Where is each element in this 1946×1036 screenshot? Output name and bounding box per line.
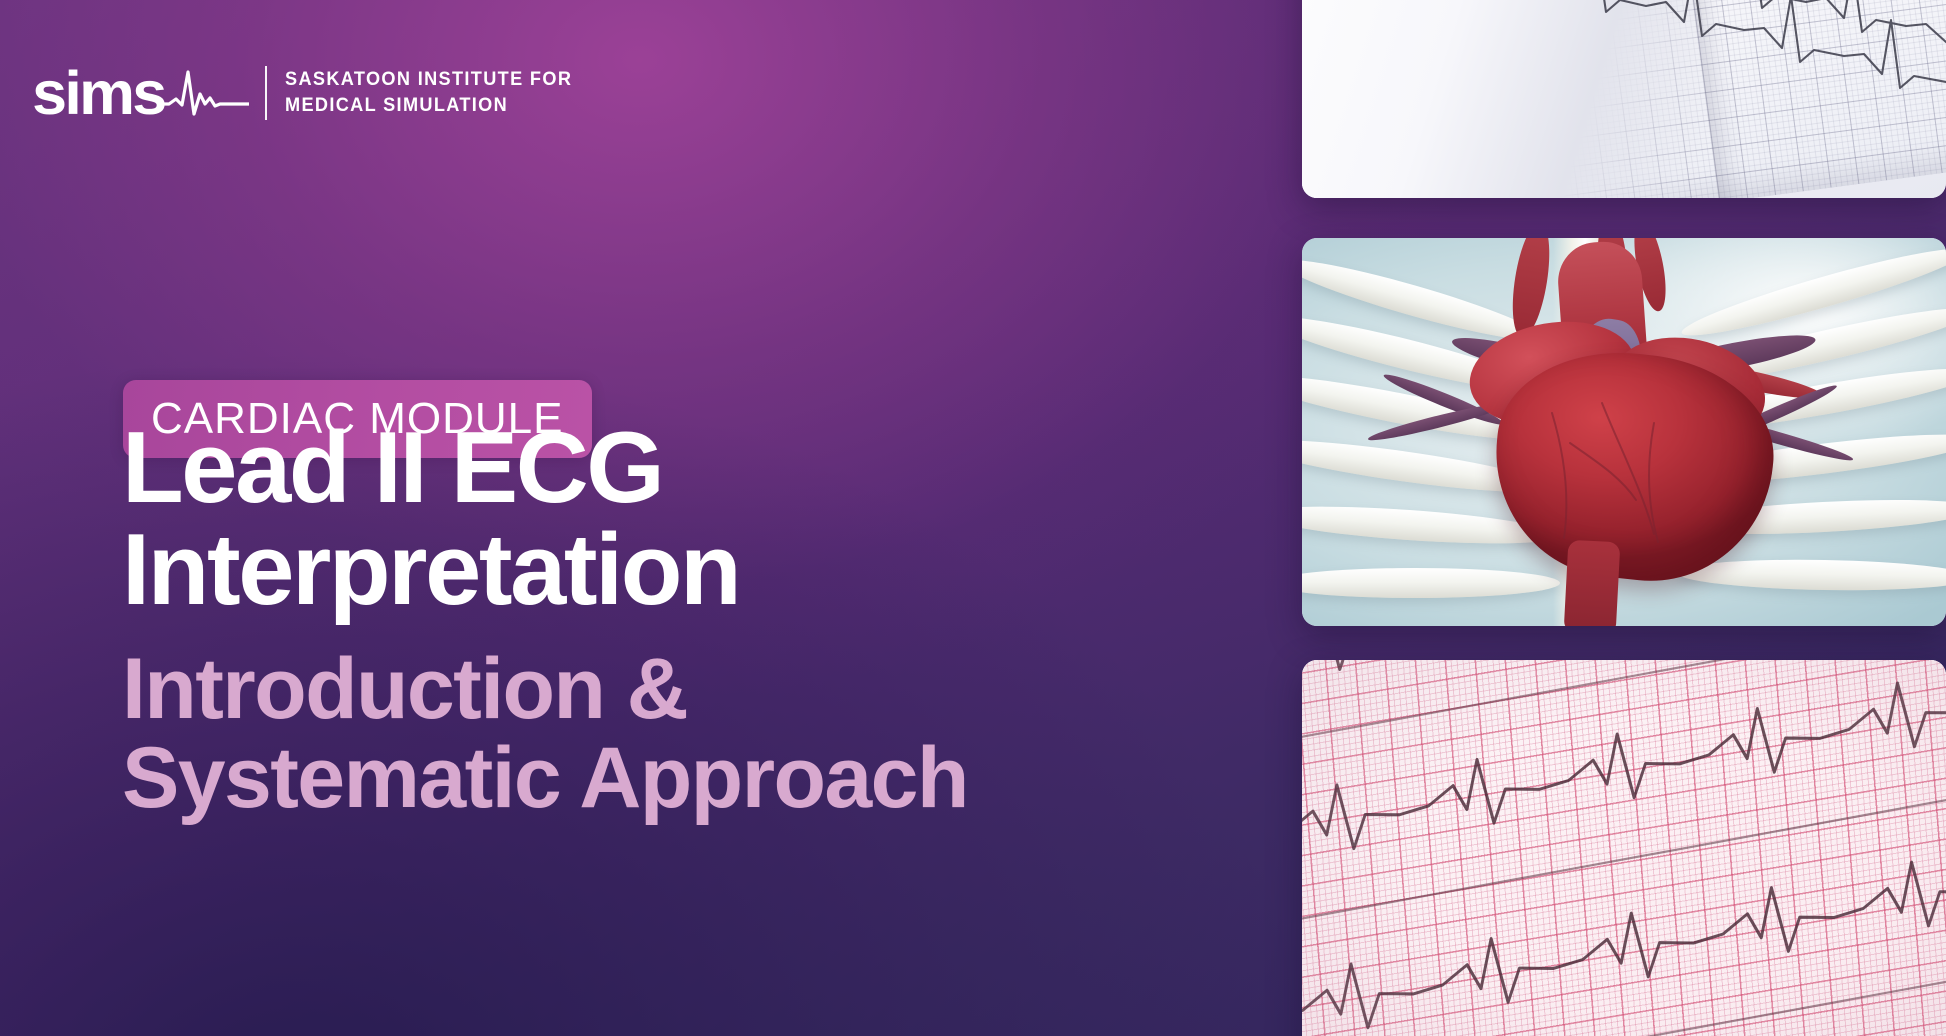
- ecg-strip-photo: [1302, 0, 1946, 198]
- logo-org-line-2: MEDICAL SIMULATION: [285, 94, 508, 116]
- anatomical-heart-render: [1302, 238, 1946, 626]
- title-slide: sims SASKATOON INSTITUTE FOR MEDICAL SIM…: [0, 0, 1946, 1036]
- logo-divider: [265, 66, 267, 120]
- logo-organization-name: SASKATOON INSTITUTE FOR MEDICAL SIMULATI…: [285, 67, 572, 118]
- title-line-1: Lead II ECG: [122, 418, 1172, 520]
- subtitle-line-2: Systematic Approach: [122, 734, 1222, 823]
- page-subtitle: Introduction & Systematic Approach: [122, 645, 1222, 822]
- ecg-graph-paper-photo: [1302, 660, 1946, 1036]
- subtitle-line-1: Introduction &: [122, 645, 1222, 734]
- page-title: Lead II ECG Interpretation: [122, 418, 1172, 621]
- ecg-pulse-icon: [161, 64, 249, 125]
- logo-wordmark: sims: [32, 68, 164, 118]
- ecg-strip-photo-card: [1302, 0, 1946, 198]
- title-line-2: Interpretation: [122, 520, 1172, 622]
- slide-content-column: sims SASKATOON INSTITUTE FOR MEDICAL SIM…: [0, 0, 1300, 1036]
- anatomical-heart-card: [1302, 238, 1946, 626]
- sims-logo: sims SASKATOON INSTITUTE FOR MEDICAL SIM…: [34, 62, 594, 124]
- logo-org-line-1: SASKATOON INSTITUTE FOR: [285, 68, 572, 90]
- ecg-graph-paper-card: [1302, 660, 1946, 1036]
- media-column: [1302, 0, 1946, 1036]
